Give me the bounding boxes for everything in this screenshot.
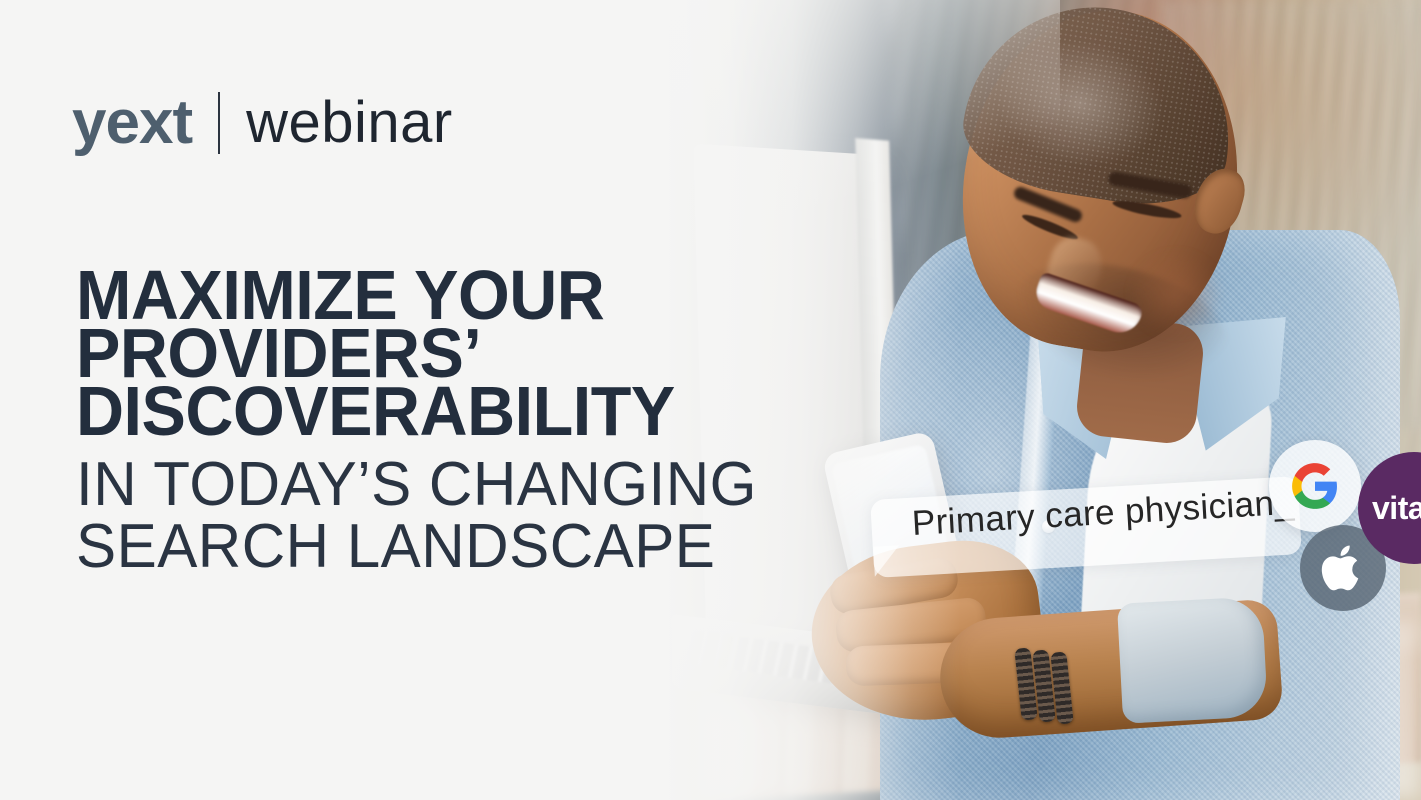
logo-divider bbox=[218, 92, 220, 154]
rolled-sleeve bbox=[1117, 596, 1268, 723]
logo-lockup: yext webinar bbox=[72, 92, 453, 154]
webinar-promo-banner: yext webinar MAXIMIZE YOUR PROVIDERS’ DI… bbox=[0, 0, 1421, 800]
google-g-icon bbox=[1290, 461, 1340, 511]
yext-logo[interactable]: yext bbox=[72, 92, 192, 154]
photo-top-fade bbox=[560, 0, 1060, 260]
headline-block: MAXIMIZE YOUR PROVIDERS’ DISCOVERABILITY… bbox=[76, 266, 856, 578]
google-badge[interactable] bbox=[1269, 440, 1361, 532]
search-bubble-tail bbox=[873, 545, 901, 576]
subheadline-line-2: SEARCH LANDSCAPE bbox=[76, 516, 833, 578]
cheek-highlight bbox=[1128, 250, 1224, 338]
webinar-label: webinar bbox=[246, 94, 453, 152]
subheadline-block: IN TODAY’S CHANGING SEARCH LANDSCAPE bbox=[76, 454, 856, 578]
subheadline-line-1: IN TODAY’S CHANGING bbox=[76, 454, 833, 516]
headline-line-3: DISCOVERABILITY bbox=[76, 382, 817, 440]
apple-logo-icon bbox=[1321, 542, 1365, 594]
vitals-label: vitals bbox=[1372, 490, 1421, 527]
